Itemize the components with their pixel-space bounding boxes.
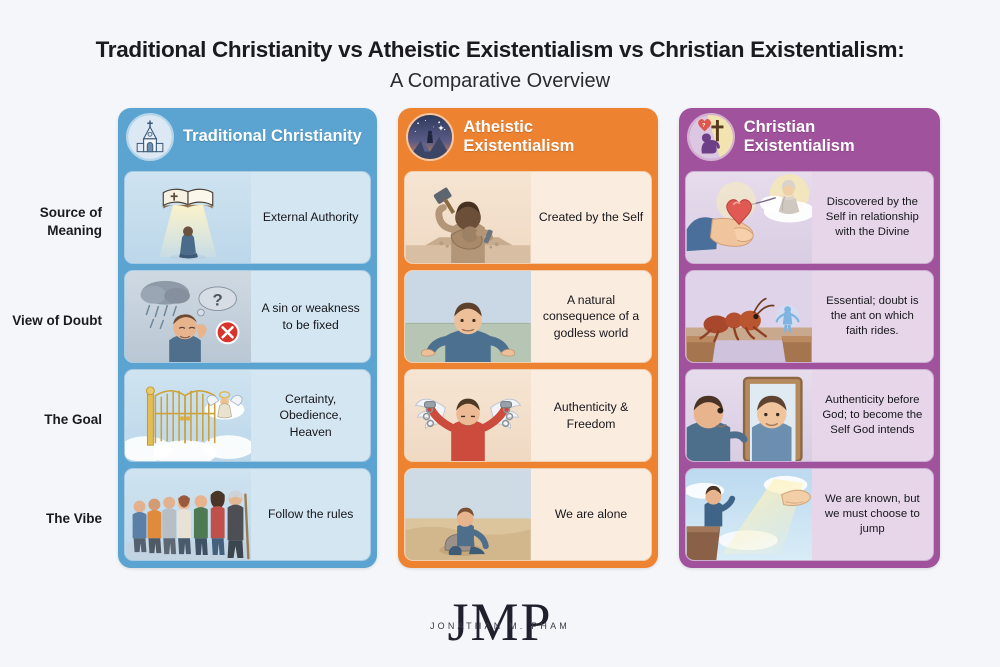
page-title: Traditional Christianity vs Atheistic Ex… bbox=[0, 0, 1000, 94]
cell-text: Essential; doubt is the ant on which fai… bbox=[812, 271, 933, 362]
cell-traditional-view-of-doubt: ? A sin or weakness to be fixed bbox=[124, 270, 371, 363]
comparison-columns: Traditional Christianity bbox=[118, 108, 940, 568]
man-with-wings-breaking-chains-illustration bbox=[405, 370, 531, 461]
cell-traditional-source-of-meaning: External Authority bbox=[124, 171, 371, 264]
figure-on-mountain-starry-sky-icon bbox=[406, 113, 454, 161]
cell-text: Created by the Self bbox=[531, 172, 650, 263]
cell-christian-view-of-doubt: Essential; doubt is the ant on which fai… bbox=[685, 270, 934, 363]
cell-text: External Authority bbox=[251, 172, 370, 263]
column-christian-existentialism: ? Christian Existentialism bbox=[679, 108, 940, 568]
svg-text:?: ? bbox=[213, 291, 223, 310]
row-label-column: Source of Meaning View of Doubt The Goal… bbox=[0, 172, 112, 568]
row-label-the-goal: The Goal bbox=[0, 370, 112, 469]
cell-christian-source-of-meaning: Discovered by the Self in relationship w… bbox=[685, 171, 934, 264]
cell-traditional-the-vibe: Follow the rules bbox=[124, 468, 371, 561]
cell-text: A natural consequence of a godless world bbox=[531, 271, 650, 362]
column-atheistic-existentialism: Atheistic Existentialism bbox=[398, 108, 657, 568]
church-icon bbox=[126, 113, 174, 161]
cell-christian-the-vibe: We are known, but we must choose to jump bbox=[685, 468, 934, 561]
cell-text: Certainty, Obedience, Heaven bbox=[251, 370, 370, 461]
watermark: JMP JONATHAN M. PHAM bbox=[0, 595, 1000, 649]
row-label-the-vibe: The Vibe bbox=[0, 469, 112, 568]
column-header-label: Traditional Christianity bbox=[183, 127, 362, 146]
cell-atheistic-source-of-meaning: Created by the Self bbox=[404, 171, 651, 264]
column-traditional-christianity: Traditional Christianity bbox=[118, 108, 377, 568]
cell-traditional-the-goal: Certainty, Obedience, Heaven bbox=[124, 369, 371, 462]
column-header-atheistic-existentialism: Atheistic Existentialism bbox=[398, 108, 657, 166]
man-facing-mirror-reflection-illustration bbox=[686, 370, 812, 461]
queue-of-people-elder-with-staff-illustration bbox=[125, 469, 251, 560]
rain-cloud-worried-man-question-mark-red-x-illustration: ? bbox=[125, 271, 251, 362]
cell-text: Follow the rules bbox=[251, 469, 370, 560]
column-header-label: Atheistic Existentialism bbox=[463, 118, 647, 157]
cell-text: Authenticity before God; to become the S… bbox=[812, 370, 933, 461]
watermark-monogram: JMP bbox=[0, 595, 1000, 649]
comparison-table: Source of Meaning View of Doubt The Goal… bbox=[0, 108, 1000, 568]
hands-holding-heart-linked-to-divine-figure-illustration bbox=[686, 172, 812, 263]
row-label-view-of-doubt: View of Doubt bbox=[0, 271, 112, 370]
cell-text: We are known, but we must choose to jump bbox=[812, 469, 933, 560]
sculptor-carving-himself-from-clay-illustration bbox=[405, 172, 531, 263]
praying-figure-cross-heart-icon: ? bbox=[687, 113, 735, 161]
shrugging-man-empty-horizon-illustration bbox=[405, 271, 531, 362]
cell-atheistic-view-of-doubt: A natural consequence of a godless world bbox=[404, 270, 651, 363]
golden-gates-angel-clouds-illustration bbox=[125, 370, 251, 461]
column-header-traditional-christianity: Traditional Christianity bbox=[118, 108, 377, 166]
column-body-traditional-christianity: External Authority bbox=[118, 166, 377, 568]
cell-text: We are alone bbox=[531, 469, 650, 560]
row-label-source-of-meaning: Source of Meaning bbox=[0, 172, 112, 271]
page-title-subtitle: A Comparative Overview bbox=[0, 69, 1000, 94]
cell-text: Authenticity & Freedom bbox=[531, 370, 650, 461]
ant-bridging-chasm-with-glowing-figure-illustration bbox=[686, 271, 812, 362]
cell-christian-the-goal: Authenticity before God; to become the S… bbox=[685, 369, 934, 462]
cell-atheistic-the-vibe: We are alone bbox=[404, 468, 651, 561]
figure-on-cliff-edge-light-beam-divine-hand-illustration bbox=[686, 469, 812, 560]
column-body-christian-existentialism: Discovered by the Self in relationship w… bbox=[679, 166, 940, 568]
cell-text: Discovered by the Self in relationship w… bbox=[812, 172, 933, 263]
column-body-atheistic-existentialism: Created by the Self bbox=[398, 166, 657, 568]
lone-figure-sitting-on-rock-in-desert-illustration bbox=[405, 469, 531, 560]
watermark-name: JONATHAN M. PHAM bbox=[0, 621, 1000, 631]
bible-light-kneeling-figure-illustration bbox=[125, 172, 251, 263]
page-title-main: Traditional Christianity vs Atheistic Ex… bbox=[0, 36, 1000, 64]
column-header-label: Christian Existentialism bbox=[744, 118, 930, 157]
cell-text: A sin or weakness to be fixed bbox=[251, 271, 370, 362]
column-header-christian-existentialism: ? Christian Existentialism bbox=[679, 108, 940, 166]
cell-atheistic-the-goal: Authenticity & Freedom bbox=[404, 369, 651, 462]
